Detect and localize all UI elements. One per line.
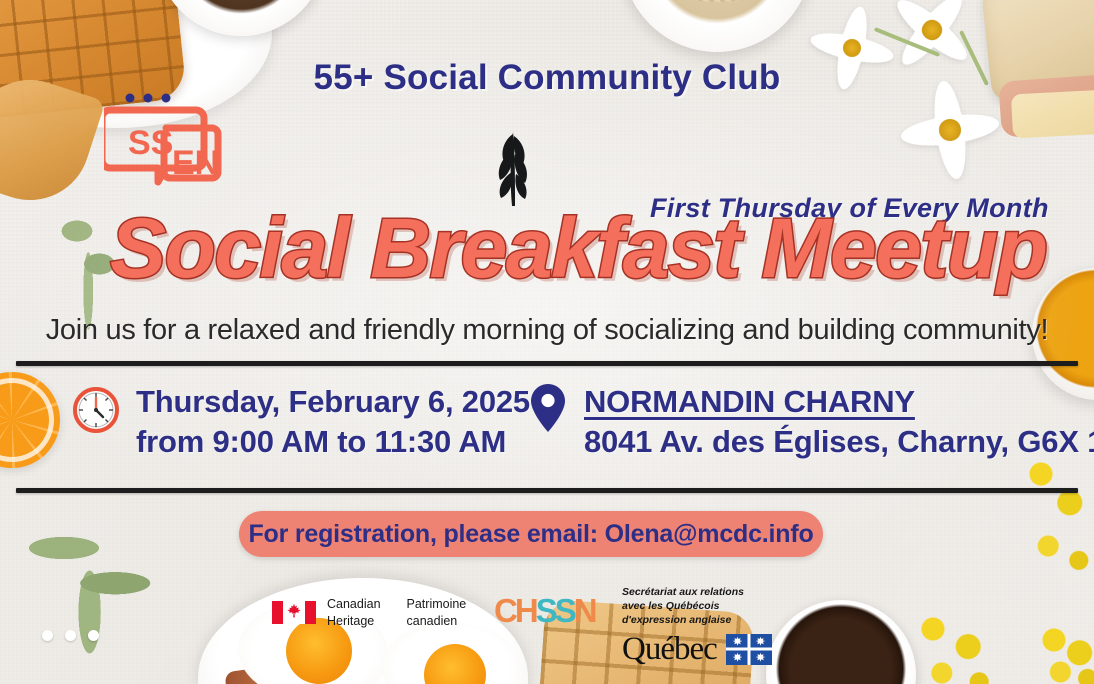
canada-flag-icon bbox=[272, 601, 316, 624]
ch-en-line1: Canadian bbox=[327, 596, 381, 613]
qc-sec-line1: Secrétariat aux relations bbox=[622, 586, 772, 600]
location-block: NORMANDIN CHARNY 8041 Av. des Églises, C… bbox=[528, 382, 1094, 461]
chssn-letter-n: N bbox=[574, 592, 595, 630]
event-time: from 9:00 AM to 11:30 AM bbox=[136, 422, 530, 462]
canadian-heritage-french: Patrimoine canadien bbox=[407, 596, 467, 629]
qc-sec-line3: d'expression anglaise bbox=[622, 614, 772, 628]
leaf-branch-icon bbox=[482, 126, 544, 213]
registration-label: For registration, please email: Olena@mc… bbox=[248, 520, 813, 549]
clock-icon bbox=[72, 386, 120, 439]
chssn-logo: C H S S N bbox=[494, 592, 595, 630]
date-time-block: Thursday, February 6, 2025 from 9:00 AM … bbox=[72, 382, 530, 461]
ch-en-line2: Heritage bbox=[327, 613, 381, 630]
club-title: 55+ Social Community Club bbox=[0, 58, 1094, 98]
ch-fr-line2: canadien bbox=[407, 613, 467, 630]
carousel-indicators[interactable] bbox=[42, 630, 99, 641]
sponsor-logos: Canadian Heritage Patrimoine canadien C … bbox=[0, 586, 1094, 654]
ssen-logo-line2: EN bbox=[172, 144, 219, 182]
carousel-dot[interactable] bbox=[65, 630, 76, 641]
divider-bottom bbox=[16, 488, 1078, 493]
canadian-heritage-english: Canadian Heritage bbox=[327, 596, 381, 629]
quebec-flag-icon bbox=[726, 634, 772, 665]
ssen-logo-line1: SS bbox=[128, 124, 173, 162]
quebec-logo: Secrétariat aux relations avec les Québé… bbox=[622, 586, 772, 668]
divider-top bbox=[16, 361, 1078, 366]
tagline: Join us for a relaxed and friendly morni… bbox=[0, 314, 1094, 347]
registration-banner[interactable]: For registration, please email: Olena@mc… bbox=[239, 511, 823, 557]
chssn-letter-s2: S bbox=[555, 592, 574, 630]
qc-sec-line2: avec les Québécois bbox=[622, 600, 772, 614]
page-title: Social Breakfast Meetup bbox=[110, 206, 1047, 290]
canadian-heritage-logo: Canadian Heritage Patrimoine canadien bbox=[272, 596, 466, 629]
date-time-text: Thursday, February 6, 2025 from 9:00 AM … bbox=[136, 382, 530, 461]
ch-fr-line1: Patrimoine bbox=[407, 596, 467, 613]
carousel-dot[interactable] bbox=[42, 630, 53, 641]
quebec-word: Québec bbox=[622, 631, 717, 668]
chssn-letter-c: C bbox=[494, 592, 515, 630]
chssn-letter-h: H bbox=[515, 592, 536, 630]
canadian-heritage-text: Canadian Heritage Patrimoine canadien bbox=[327, 596, 466, 629]
event-date: Thursday, February 6, 2025 bbox=[136, 382, 530, 422]
ssen-logo: SS EN bbox=[104, 84, 222, 199]
event-poster: SS EN 55+ Social Community Club Fir bbox=[0, 0, 1094, 684]
chssn-letter-s1: S bbox=[536, 592, 555, 630]
location-text: NORMANDIN CHARNY 8041 Av. des Églises, C… bbox=[584, 382, 1094, 461]
venue-name[interactable]: NORMANDIN CHARNY bbox=[584, 382, 1094, 422]
map-pin-icon bbox=[528, 382, 568, 439]
poster-content: SS EN 55+ Social Community Club Fir bbox=[0, 0, 1094, 684]
carousel-dot[interactable] bbox=[88, 630, 99, 641]
quebec-wordmark: Québec bbox=[622, 631, 772, 668]
event-details: Thursday, February 6, 2025 from 9:00 AM … bbox=[0, 378, 1094, 478]
quebec-secretariat-text: Secrétariat aux relations avec les Québé… bbox=[622, 586, 772, 628]
venue-address: 8041 Av. des Églises, Charny, G6X 1X6 bbox=[584, 422, 1094, 462]
